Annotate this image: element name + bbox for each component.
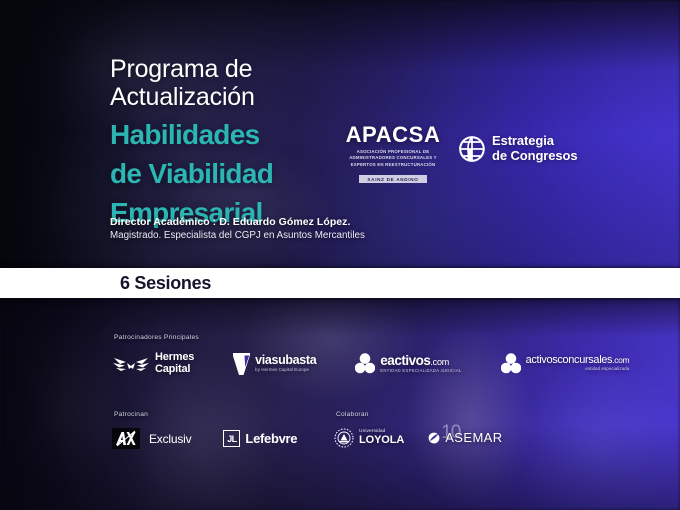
director-name: Director Académico : D. Eduardo Gómez Ló… xyxy=(110,216,365,228)
main-sponsors-row: Hermes Capital viasubasta by Hermes Capi… xyxy=(112,352,629,375)
asemar-swoosh-icon xyxy=(428,432,440,444)
patrocinan-row: Exclusiv JL Lefebvre xyxy=(112,428,297,449)
director-credentials: Magistrado. Especialista del CGPJ en Asu… xyxy=(110,230,365,241)
loyola-crest-icon xyxy=(334,428,354,448)
sponsor-axa-exclusiv: Exclusiv xyxy=(112,428,191,449)
axa-logo-icon xyxy=(112,428,140,449)
exclusiv-label: Exclusiv xyxy=(149,432,191,446)
estrategia-de-congresos-logo: Estrategia de Congresos xyxy=(459,134,577,164)
viasubasta-line-2: by Hermes Capital Europe xyxy=(255,368,316,373)
bottom-overlay-gradient xyxy=(0,298,680,510)
kicker-line-1: Programa de xyxy=(110,56,370,84)
title-line-1: Habilidades xyxy=(110,120,370,150)
jl-box-icon: JL xyxy=(223,430,240,447)
activosconcursales-line-2: entidad especializada xyxy=(526,367,630,372)
hero-headline: Programa de Actualización Habilidades de… xyxy=(110,56,370,228)
estrategia-line-2: de Congresos xyxy=(492,148,577,163)
hermes-line-1: Hermes xyxy=(155,351,194,363)
sessions-band: 6 Sesiones xyxy=(0,268,680,298)
winged-handshake-icon xyxy=(112,353,150,375)
apacsa-wordmark: APACSA xyxy=(337,124,449,146)
viasubasta-text: viasubasta by Hermes Capital Europe xyxy=(255,354,316,373)
colaboran-label: Colaboran xyxy=(336,411,369,418)
apacsa-subtitle: ASOCIACIÓN PROFESIONAL DE ADMINISTRADORE… xyxy=(337,149,449,168)
conference-poster: Programa de Actualización Habilidades de… xyxy=(0,0,680,510)
bottom-photo-backdrop xyxy=(0,298,680,510)
globe-grid-icon xyxy=(459,136,485,162)
estrategia-text: Estrategia de Congresos xyxy=(492,134,577,164)
title-line-2: de Viabilidad xyxy=(110,159,370,189)
apacsa-logo: APACSA ASOCIACIÓN PROFESIONAL DE ADMINIS… xyxy=(337,124,449,186)
v-mark-icon xyxy=(233,353,250,375)
sponsor-eactivos: eactivos.com ENTIDAD ESPECIALIZADA JUDIC… xyxy=(355,353,461,374)
hermes-capital-text: Hermes Capital xyxy=(155,352,194,375)
hermes-line-2: Capital xyxy=(155,363,190,375)
three-circles-icon xyxy=(501,353,521,374)
kicker-line-2: Actualización xyxy=(110,84,370,112)
estrategia-line-1: Estrategia xyxy=(492,133,554,148)
eactivos-line-2: ENTIDAD ESPECIALIZADA JUDICIAL xyxy=(380,369,461,374)
sponsor-hermes-capital: Hermes Capital xyxy=(112,352,194,375)
patrocinan-label: Patrocinan xyxy=(114,411,148,418)
eactivos-text: eactivos.com ENTIDAD ESPECIALIZADA JUDIC… xyxy=(380,354,461,373)
loyola-text: Universidad LOYOLA xyxy=(359,429,404,446)
loyola-line-2: LOYOLA xyxy=(359,435,404,447)
viasubasta-line-1: viasubasta xyxy=(255,354,316,367)
three-circles-icon xyxy=(355,353,375,374)
colaboran-row: Universidad LOYOLA 10 ASEMAR xyxy=(334,428,503,448)
asemar-label: ASEMAR xyxy=(445,431,502,445)
director-block: Director Académico : D. Eduardo Gómez Ló… xyxy=(110,216,365,241)
eactivos-suffix: .com xyxy=(430,357,449,367)
lefebvre-label: Lefebvre xyxy=(245,431,297,446)
apacsa-badge: SAINZ DE ANDINO xyxy=(359,175,426,183)
activosconcursales-suffix: .com xyxy=(612,355,629,365)
main-sponsors-label: Patrocinadores Principales xyxy=(114,334,199,341)
sponsor-lefebvre: JL Lefebvre xyxy=(223,430,297,447)
sponsor-activosconcursales: activosconcursales.com entidad especiali… xyxy=(501,353,630,374)
activosconcursales-text: activosconcursales.com entidad especiali… xyxy=(526,355,630,372)
sponsor-viasubasta: viasubasta by Hermes Capital Europe xyxy=(233,353,316,375)
eactivos-line-1: eactivos xyxy=(380,353,430,368)
activosconcursales-line-1: activosconcursales xyxy=(526,354,613,366)
sessions-count-label: 6 Sesiones xyxy=(120,273,211,294)
collaborator-universidad-loyola: Universidad LOYOLA xyxy=(334,428,404,448)
collaborator-asemar: 10 ASEMAR xyxy=(428,431,502,445)
